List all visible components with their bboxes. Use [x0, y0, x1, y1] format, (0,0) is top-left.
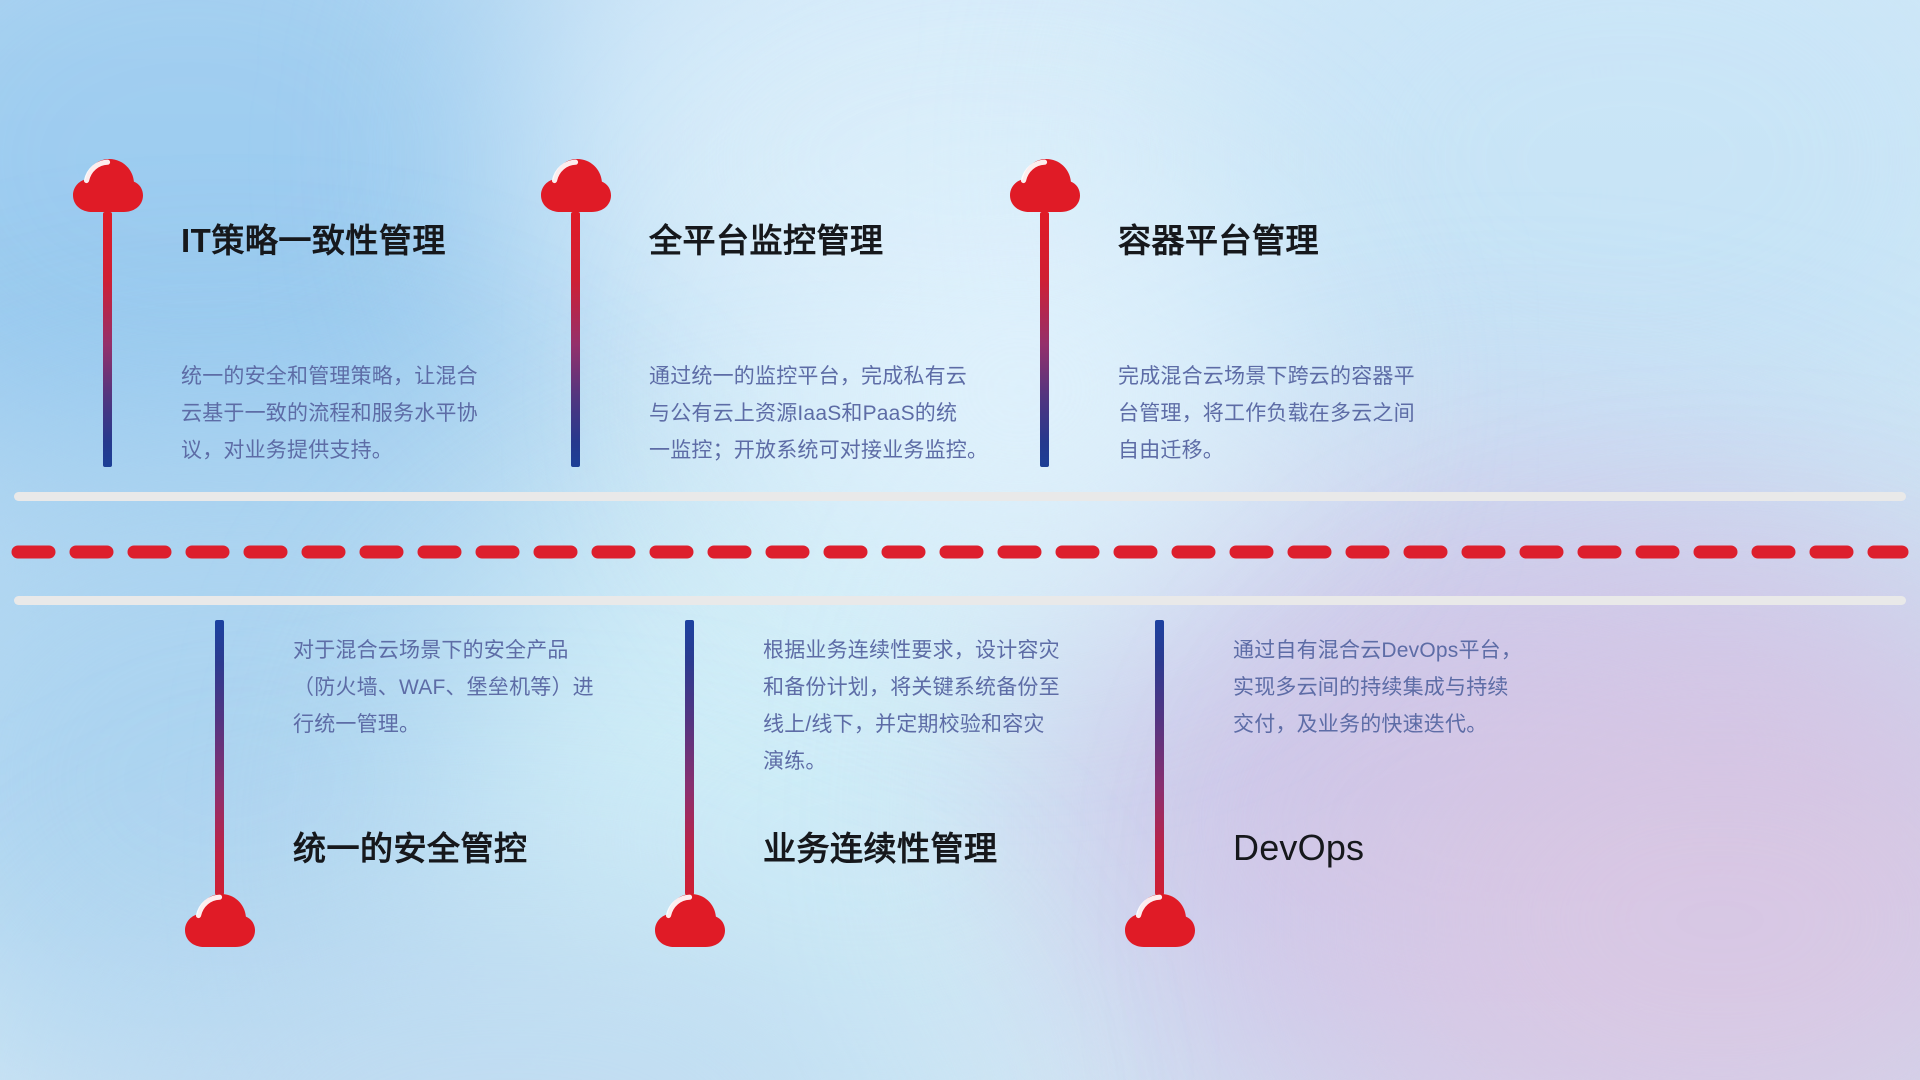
- item-body: 完成混合云场景下跨云的容器平 台管理，将工作负载在多云之间 自由迁移。: [1118, 358, 1558, 469]
- item-title: 业务连续性管理: [763, 832, 998, 865]
- item-title: DevOps: [1233, 830, 1364, 866]
- cloud-shape: [655, 894, 725, 947]
- item-title: 统一的安全管控: [293, 832, 528, 865]
- item-stem: [215, 620, 224, 895]
- upper-white-rule: [14, 492, 1906, 501]
- item-body: 通过统一的监控平台，完成私有云 与公有云上资源IaaS和PaaS的统 一监控；开…: [649, 358, 1099, 469]
- cloud-icon: [1123, 890, 1197, 950]
- cloud-shape: [541, 159, 611, 212]
- item-body: 对于混合云场景下的安全产品 （防火墙、WAF、堡垒机等）进 行统一管理。: [293, 632, 723, 743]
- item-title: IT策略一致性管理: [181, 224, 446, 257]
- cloud-icon: [653, 890, 727, 950]
- cloud-icon: [1008, 155, 1082, 215]
- item-body: 统一的安全和管理策略，让混合 云基于一致的流程和服务水平协 议，对业务提供支持。: [181, 358, 611, 469]
- item-title: 全平台监控管理: [649, 224, 884, 257]
- red-dashed-divider: [0, 545, 1920, 559]
- cloud-shape: [185, 894, 255, 947]
- background-veil: [0, 0, 1920, 1080]
- cloud-icon: [183, 890, 257, 950]
- item-stem: [571, 212, 580, 467]
- item-stem: [1155, 620, 1164, 895]
- cloud-shape: [73, 159, 143, 212]
- item-stem: [685, 620, 694, 895]
- lower-white-rule: [14, 596, 1906, 605]
- item-stem: [103, 212, 112, 467]
- item-stem: [1040, 212, 1049, 467]
- item-body: 通过自有混合云DevOps平台， 实现多云间的持续集成与持续 交付，及业务的快速…: [1233, 632, 1663, 743]
- item-title: 容器平台管理: [1118, 224, 1319, 257]
- item-body: 根据业务连续性要求，设计容灾 和备份计划，将关键系统备份至 线上/线下，并定期校…: [763, 632, 1193, 780]
- cloud-icon: [71, 155, 145, 215]
- cloud-shape: [1125, 894, 1195, 947]
- cloud-icon: [539, 155, 613, 215]
- cloud-shape: [1010, 159, 1080, 212]
- infographic-canvas: IT策略一致性管理 统一的安全和管理策略，让混合 云基于一致的流程和服务水平协 …: [0, 0, 1920, 1080]
